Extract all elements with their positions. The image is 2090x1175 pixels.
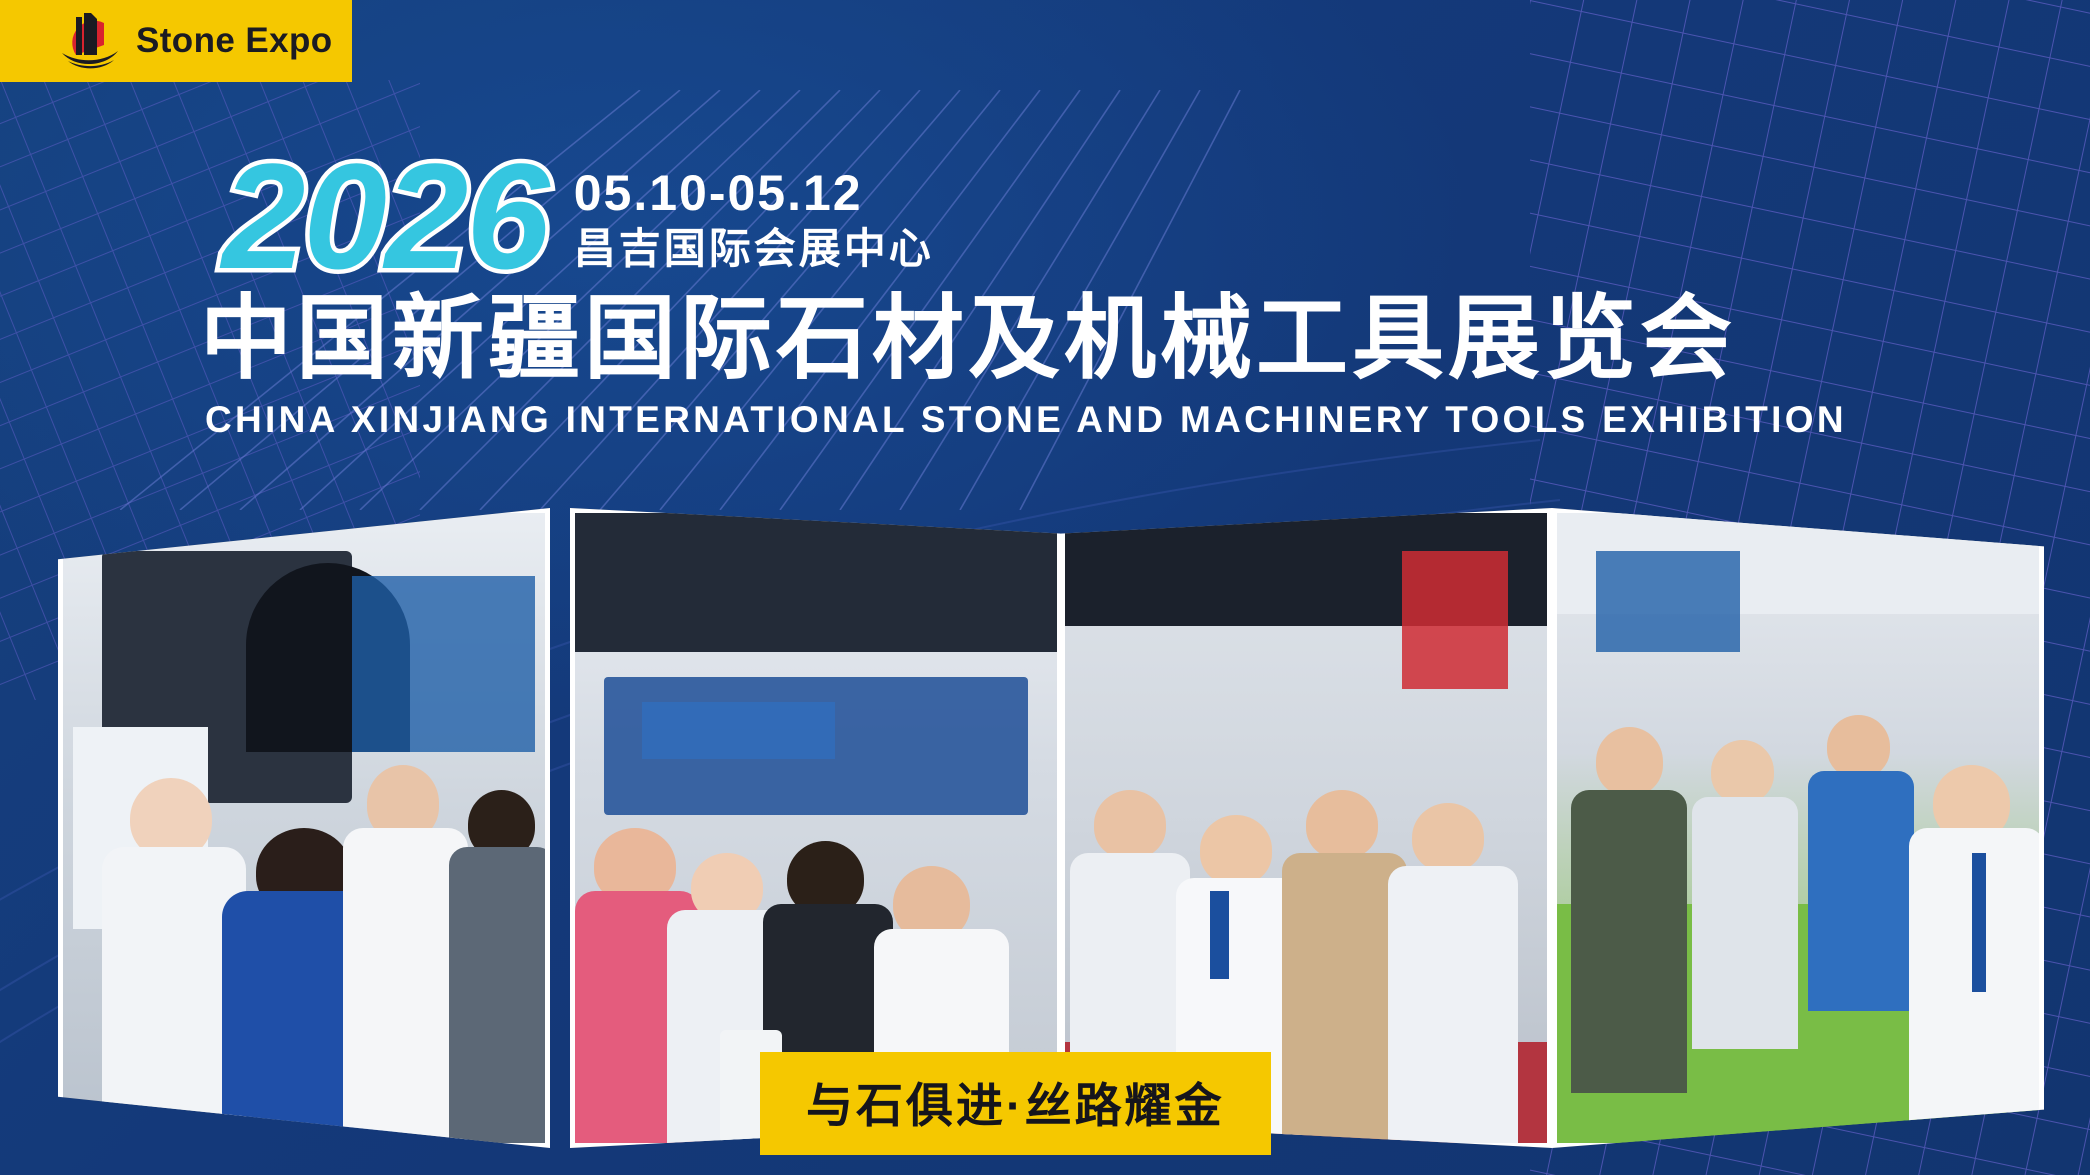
event-banner: Stone Expo 2026 05.10-05.12 昌吉国际会展中心 中国新… <box>0 0 2090 1175</box>
year-and-meta-row: 2026 05.10-05.12 昌吉国际会展中心 <box>0 150 2090 282</box>
year-wrap: 2026 <box>222 150 548 282</box>
logo-plate[interactable]: Stone Expo <box>0 0 352 82</box>
stone-expo-emblem-icon <box>56 11 122 71</box>
event-title-english: CHINA XINJIANG INTERNATIONAL STONE AND M… <box>0 399 2090 441</box>
event-venue: 昌吉国际会展中心 <box>574 224 934 274</box>
logo-text: Stone Expo <box>136 21 333 61</box>
headline-block: 2026 05.10-05.12 昌吉国际会展中心 中国新疆国际石材及机械工具展… <box>0 150 2090 441</box>
event-title-chinese: 中国新疆国际石材及机械工具展览会 <box>0 290 2090 389</box>
event-meta: 05.10-05.12 昌吉国际会展中心 <box>574 150 934 274</box>
photo-exhibition-booth-visitors <box>58 508 550 1148</box>
event-year: 2026 <box>222 150 548 282</box>
event-dates: 05.10-05.12 <box>574 166 934 220</box>
slogan-badge: 与石俱进·丝路耀金 <box>760 1052 1271 1155</box>
photo-green-carpet-exhibition-hall <box>1552 508 2044 1148</box>
